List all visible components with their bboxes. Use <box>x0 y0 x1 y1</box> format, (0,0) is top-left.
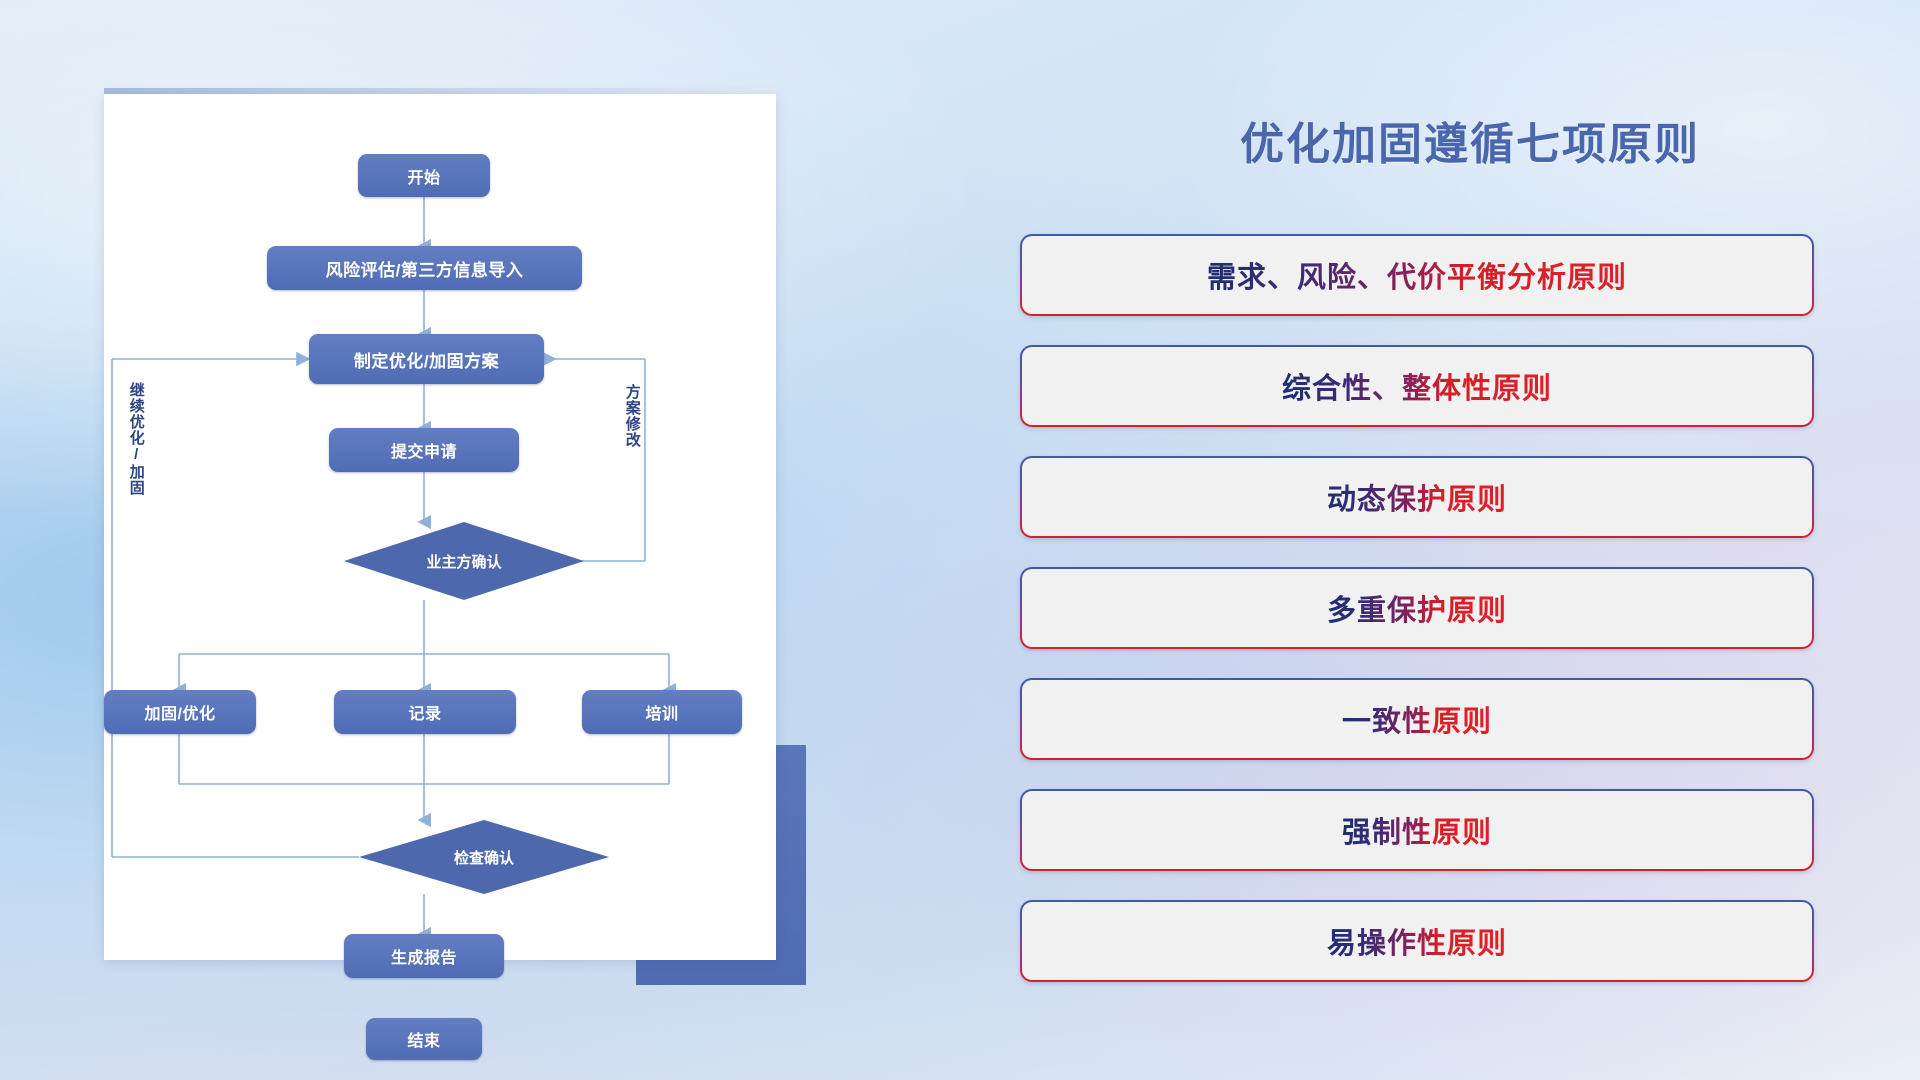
principle-label: 综合性、整体性原则 <box>1282 365 1552 407</box>
flow-node-submit[interactable]: 提交申请 <box>329 428 519 472</box>
principle-item[interactable]: 需求、风险、代价平衡分析原则 <box>1020 234 1814 316</box>
principle-label: 多重保护原则 <box>1327 587 1507 629</box>
principle-label: 需求、风险、代价平衡分析原则 <box>1207 254 1627 296</box>
principle-face: 易操作性原则 <box>1022 902 1812 980</box>
principle-item[interactable]: 易操作性原则 <box>1020 900 1814 982</box>
principle-label: 易操作性原则 <box>1327 920 1507 962</box>
principle-label: 一致性原则 <box>1342 698 1492 740</box>
flow-label-plan-revision: 方案修改 <box>624 384 640 448</box>
flow-node-risk-assessment[interactable]: 风险评估/第三方信息导入 <box>267 246 582 290</box>
flowchart-card: 开始 风险评估/第三方信息导入 制定优化/加固方案 提交申请 业主方确认 加固/… <box>104 94 776 960</box>
principle-label: 强制性原则 <box>1342 809 1492 851</box>
principle-face: 强制性原则 <box>1022 791 1812 869</box>
principle-face: 综合性、整体性原则 <box>1022 347 1812 425</box>
principle-item[interactable]: 多重保护原则 <box>1020 567 1814 649</box>
flowchart: 开始 风险评估/第三方信息导入 制定优化/加固方案 提交申请 业主方确认 加固/… <box>104 94 776 960</box>
flow-node-training[interactable]: 培训 <box>582 690 742 734</box>
panel-title: 优化加固遵循七项原则 <box>1150 108 1790 172</box>
flowchart-connectors <box>104 94 776 960</box>
principle-label: 动态保护原则 <box>1327 476 1507 518</box>
principle-item[interactable]: 动态保护原则 <box>1020 456 1814 538</box>
principle-face: 需求、风险、代价平衡分析原则 <box>1022 236 1812 314</box>
flow-node-record[interactable]: 记录 <box>334 690 516 734</box>
flow-node-plan[interactable]: 制定优化/加固方案 <box>309 334 544 384</box>
principle-item[interactable]: 强制性原则 <box>1020 789 1814 871</box>
flow-node-report[interactable]: 生成报告 <box>344 934 504 978</box>
principle-face: 多重保护原则 <box>1022 569 1812 647</box>
flow-node-start[interactable]: 开始 <box>358 154 490 197</box>
flow-label-continue-optimize: 继续优化/加固 <box>128 382 144 496</box>
principle-item[interactable]: 一致性原则 <box>1020 678 1814 760</box>
flow-node-end[interactable]: 结束 <box>366 1018 482 1060</box>
flow-node-reinforce[interactable]: 加固/优化 <box>104 690 256 734</box>
principle-face: 一致性原则 <box>1022 680 1812 758</box>
principle-face: 动态保护原则 <box>1022 458 1812 536</box>
principles-panel: 优化加固遵循七项原则 需求、风险、代价平衡分析原则 综合性、整体性原则 动态保护… <box>1020 0 1920 1080</box>
principle-item[interactable]: 综合性、整体性原则 <box>1020 345 1814 427</box>
